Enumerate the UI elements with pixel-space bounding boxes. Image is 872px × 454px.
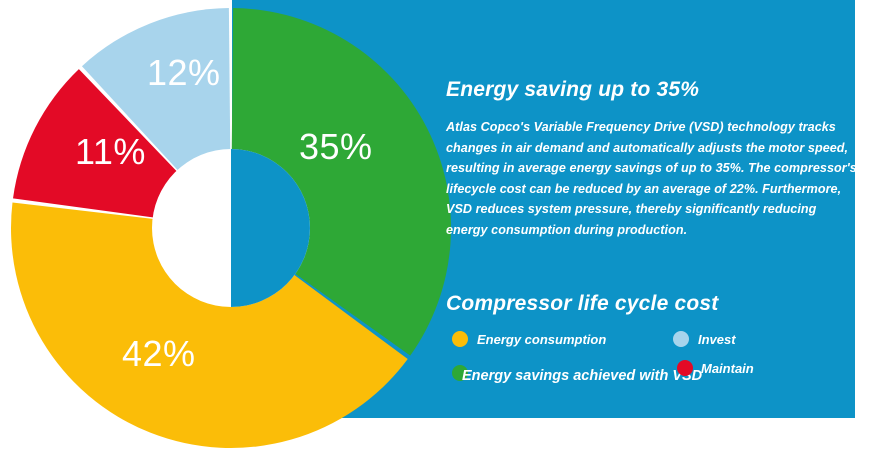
legend-dot-icon: [452, 331, 468, 347]
donut-chart: [7, 4, 455, 452]
legend-label-maintain: Maintain: [701, 361, 754, 376]
panel-body-text: Atlas Copco's Variable Frequency Drive (…: [446, 117, 860, 240]
slice-label-light-blue: 12%: [147, 52, 221, 94]
slice-label-green: 35%: [299, 126, 373, 168]
legend-dot-icon: [673, 331, 689, 347]
legend-title: Compressor life cycle cost: [446, 292, 846, 316]
legend-label-energy-consumption: Energy consumption: [477, 332, 606, 347]
legend-label-energy-savings: Energy savings achieved with VSD: [462, 368, 702, 384]
legend-item-energy-consumption: Energy consumption: [452, 331, 606, 347]
legend-dot-icon: [677, 360, 693, 376]
donut-chart-svg: [7, 4, 455, 452]
legend-item-energy-savings: Energy savings achieved with VSD: [452, 362, 702, 384]
legend-item-maintain: Maintain: [677, 360, 754, 376]
slice-label-yellow: 42%: [122, 333, 196, 375]
legend-label-invest: Invest: [698, 332, 736, 347]
slice-label-red: 11%: [75, 131, 146, 173]
panel-heading: Energy saving up to 35%: [446, 78, 846, 102]
infographic-root: 35% 42% 11% 12% Energy saving up to 35% …: [0, 0, 872, 454]
legend-item-invest: Invest: [673, 331, 736, 347]
